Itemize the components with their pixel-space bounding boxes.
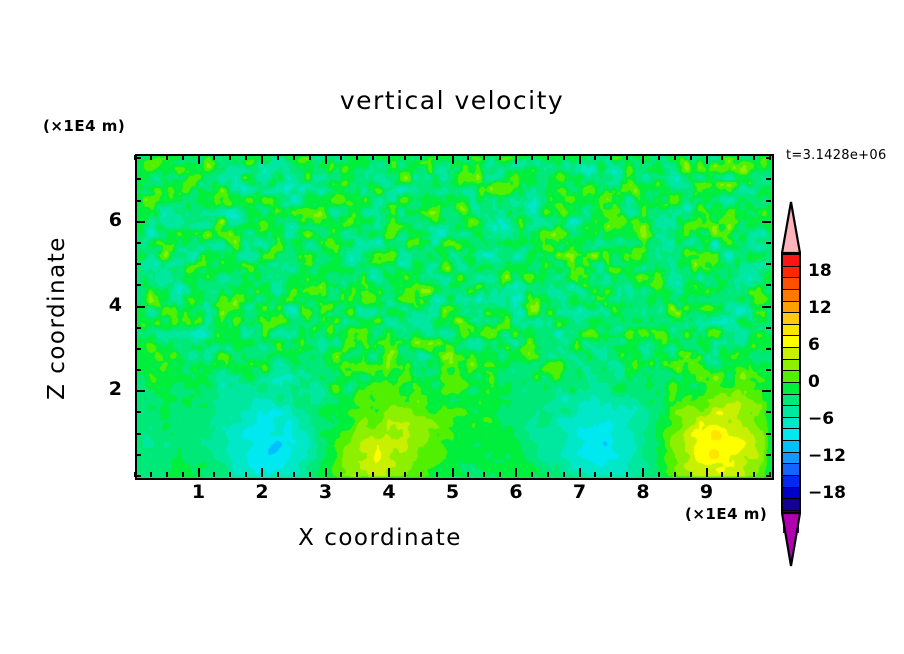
tick-mark [483,472,485,477]
y-tick-label: 6 [100,209,122,231]
tick-mark [293,472,295,477]
timestamp-label: t=3.1428e+06 [786,148,887,163]
tick-mark [436,155,438,160]
tick-mark [766,327,771,329]
tick-mark [594,472,596,477]
tick-mark [340,155,342,160]
tick-mark [610,472,612,477]
tick-mark [674,472,676,477]
tick-mark [372,155,374,160]
tick-mark [136,390,145,392]
tick-mark [766,475,771,477]
tick-mark [766,242,771,244]
tick-mark [356,155,358,160]
tick-mark [420,472,422,477]
colorbar-band [783,278,799,290]
tick-mark [136,411,141,413]
tick-mark [136,284,141,286]
x-tick-label: 1 [184,481,214,503]
tick-mark [136,454,141,456]
tick-mark [674,155,676,160]
tick-mark [136,433,141,435]
tick-mark [261,155,263,164]
colorbar-band [783,453,799,465]
x-axis-title: X coordinate [0,525,760,551]
colorbar-band [783,464,799,476]
tick-mark [626,155,628,160]
tick-mark [136,348,141,350]
tick-mark [515,468,517,477]
tick-mark [213,155,215,160]
vertical-velocity-field [137,156,772,478]
tick-mark [198,468,200,477]
tick-mark [150,155,152,160]
tick-mark [626,472,628,477]
tick-mark [372,472,374,477]
tick-mark [150,472,152,477]
colorbar-over-arrow-icon [781,201,801,254]
colorbar-band [783,488,799,500]
x-tick-label: 6 [501,481,531,503]
tick-mark [325,155,327,164]
tick-mark [467,155,469,160]
tick-mark [706,155,708,164]
tick-mark [261,468,263,477]
tick-mark [579,155,581,164]
tick-mark [293,155,295,160]
tick-mark [245,472,247,477]
tick-mark [547,155,549,160]
x-tick-label: 8 [628,481,658,503]
tick-mark [136,263,141,265]
colorbar-band [783,348,799,360]
tick-mark [766,369,771,371]
tick-mark [706,468,708,477]
tick-mark [325,468,327,477]
colorbar-label: 0 [808,372,820,392]
colorbar-under-arrow-icon [781,511,801,567]
tick-mark [762,390,771,392]
tick-mark [766,263,771,265]
tick-mark [721,155,723,160]
page-title: vertical velocity [0,86,904,115]
tick-mark [737,472,739,477]
x-tick-label: 2 [247,481,277,503]
colorbar-band [783,302,799,314]
tick-mark [483,155,485,160]
x-tick-label: 7 [565,481,595,503]
tick-mark [690,155,692,160]
y-axis-title: Z coordinate [44,233,70,403]
tick-mark [658,155,660,160]
colorbar-band [783,429,799,441]
colorbar-band [783,336,799,348]
tick-mark [766,411,771,413]
tick-mark [388,155,390,164]
tick-mark [213,472,215,477]
colorbar-band [783,441,799,453]
tick-mark [182,472,184,477]
tick-mark [766,284,771,286]
colorbar-band [783,476,799,488]
tick-mark [309,472,311,477]
tick-mark [182,155,184,160]
tick-mark [452,155,454,164]
tick-mark [658,472,660,477]
colorbar-label: −18 [808,483,846,503]
colorbar-label: −6 [808,409,834,429]
tick-mark [563,472,565,477]
colorbar: 181260−6−12−18 [778,203,804,513]
tick-mark [531,472,533,477]
tick-mark [753,472,755,477]
tick-mark [136,242,141,244]
x-axis-unit-label: (×1E4 m) [685,505,767,523]
tick-mark [277,155,279,160]
colorbar-band [783,267,799,279]
colorbar-band [783,325,799,337]
tick-mark [515,155,517,164]
tick-mark [579,468,581,477]
tick-mark [404,155,406,160]
tick-mark [762,221,771,223]
tick-mark [766,433,771,435]
tick-mark [340,472,342,477]
colorbar-band [783,383,799,395]
tick-mark [136,157,141,159]
tick-mark [356,472,358,477]
x-tick-label: 5 [438,481,468,503]
tick-mark [563,155,565,160]
velocity-field-canvas [137,156,772,478]
tick-mark [766,178,771,180]
tick-mark [547,472,549,477]
tick-mark [642,155,644,164]
contour-plot-panel [135,154,774,480]
y-tick-label: 2 [100,378,122,400]
x-tick-label: 3 [311,481,341,503]
tick-mark [690,472,692,477]
tick-mark [277,472,279,477]
colorbar-band [783,360,799,372]
tick-mark [766,348,771,350]
colorbar-band [783,406,799,418]
tick-mark [136,200,141,202]
tick-mark [229,472,231,477]
tick-mark [499,472,501,477]
colorbar-bands [781,253,801,512]
tick-mark [436,472,438,477]
x-tick-label: 4 [374,481,404,503]
tick-mark [766,157,771,159]
tick-mark [198,155,200,164]
tick-mark [136,306,145,308]
tick-mark [452,468,454,477]
tick-mark [531,155,533,160]
colorbar-band [783,499,799,511]
tick-mark [388,468,390,477]
tick-mark [721,472,723,477]
tick-mark [467,472,469,477]
tick-mark [309,155,311,160]
colorbar-band [783,418,799,430]
colorbar-band [783,313,799,325]
tick-mark [136,221,145,223]
tick-mark [499,155,501,160]
tick-mark [166,155,168,160]
colorbar-label: 6 [808,335,820,355]
tick-mark [420,155,422,160]
colorbar-band [783,255,799,267]
y-axis-unit-label: (×1E4 m) [43,117,125,135]
tick-mark [136,178,141,180]
tick-mark [404,472,406,477]
tick-mark [229,155,231,160]
tick-mark [245,155,247,160]
tick-mark [136,327,141,329]
colorbar-label: 12 [808,298,832,318]
tick-mark [762,306,771,308]
y-tick-label: 4 [100,294,122,316]
colorbar-band [783,371,799,383]
tick-mark [766,454,771,456]
tick-mark [594,155,596,160]
colorbar-band [783,395,799,407]
tick-mark [642,468,644,477]
x-tick-label: 9 [692,481,722,503]
tick-mark [136,369,141,371]
colorbar-band [783,290,799,302]
colorbar-label: −12 [808,446,846,466]
tick-mark [766,200,771,202]
colorbar-label: 18 [808,261,832,281]
tick-mark [166,472,168,477]
tick-mark [753,155,755,160]
tick-mark [136,475,141,477]
tick-mark [610,155,612,160]
tick-mark [737,155,739,160]
